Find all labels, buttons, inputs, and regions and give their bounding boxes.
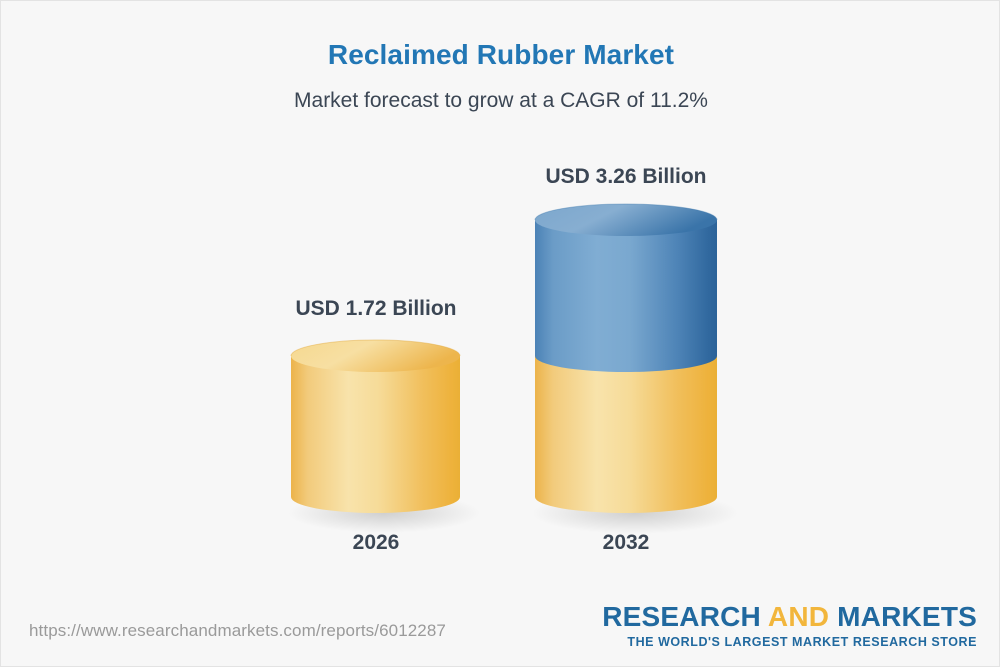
logo-and-text: AND: [768, 601, 829, 632]
category-label-2026: 2026: [276, 531, 476, 555]
source-url[interactable]: https://www.researchandmarkets.com/repor…: [29, 621, 446, 641]
category-label-2032: 2032: [526, 531, 726, 555]
cylinder-chart-graphic: [1, 1, 1000, 601]
value-label-2026: USD 1.72 Billion: [276, 297, 476, 321]
plot-area: USD 1.72 Billion USD 3.26 Billion 2026 2…: [1, 1, 1000, 601]
research-and-markets-logo: RESEARCH AND MARKETS THE WORLD'S LARGEST…: [602, 603, 977, 649]
logo-wordmark: RESEARCH AND MARKETS: [602, 603, 977, 631]
chart-canvas: Reclaimed Rubber Market Market forecast …: [0, 0, 1000, 667]
cylinder-2026: [288, 340, 480, 533]
logo-tagline: THE WORLD'S LARGEST MARKET RESEARCH STOR…: [602, 636, 977, 649]
value-label-2032: USD 3.26 Billion: [526, 165, 726, 189]
logo-research-text: RESEARCH: [602, 601, 768, 632]
logo-markets-text: MARKETS: [829, 601, 977, 632]
cylinder-2032: [532, 204, 738, 534]
